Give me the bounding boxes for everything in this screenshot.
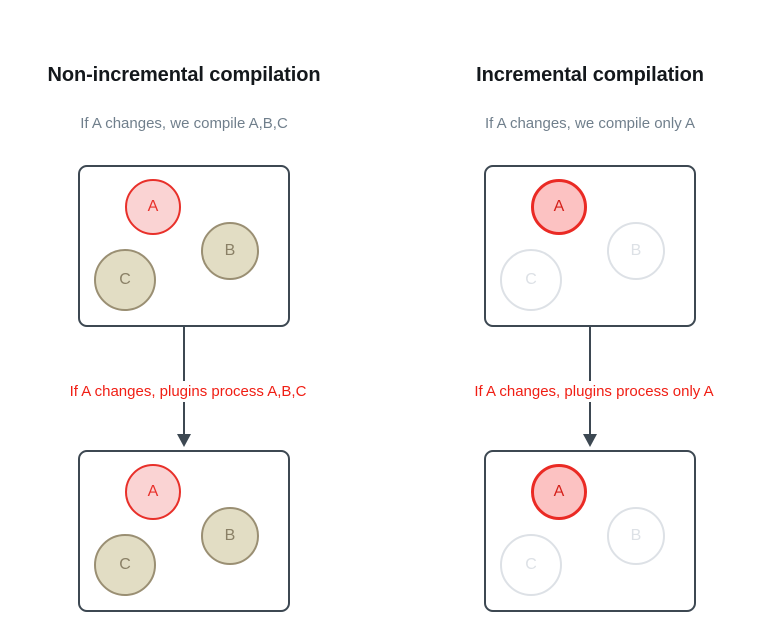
right-column-subtitle: If A changes, we compile only A [415, 115, 765, 132]
left-output-panel: A B C [78, 450, 290, 612]
left-column-title: Non-incremental compilation [9, 64, 359, 87]
right-source-node-c: C [500, 249, 562, 311]
left-output-node-a: A [125, 464, 181, 520]
right-source-node-a: A [531, 179, 587, 235]
right-arrow-caption: If A changes, plugins process only A [415, 381, 773, 402]
left-arrow-head [177, 434, 191, 447]
left-arrow-caption: If A changes, plugins process A,B,C [9, 381, 367, 402]
left-source-node-a: A [125, 179, 181, 235]
left-source-node-c: C [94, 249, 156, 311]
left-source-node-b: B [201, 222, 259, 280]
right-source-panel: A B C [484, 165, 696, 327]
node-label-b: B [631, 243, 642, 259]
right-output-node-b: B [607, 507, 665, 565]
node-label-a: A [554, 484, 565, 500]
right-output-node-a: A [531, 464, 587, 520]
node-label-c: C [525, 272, 537, 288]
right-arrow-head [583, 434, 597, 447]
left-output-node-b: B [201, 507, 259, 565]
node-label-a: A [554, 199, 565, 215]
node-label-a: A [148, 484, 159, 500]
right-column-title: Incremental compilation [415, 64, 765, 87]
left-column-subtitle: If A changes, we compile A,B,C [9, 115, 359, 132]
node-label-c: C [525, 557, 537, 573]
left-output-node-c: C [94, 534, 156, 596]
node-label-b: B [225, 243, 236, 259]
node-label-b: B [225, 528, 236, 544]
right-source-node-b: B [607, 222, 665, 280]
node-label-c: C [119, 557, 131, 573]
node-label-b: B [631, 528, 642, 544]
node-label-c: C [119, 272, 131, 288]
right-output-panel: A B C [484, 450, 696, 612]
left-source-panel: A B C [78, 165, 290, 327]
right-output-node-c: C [500, 534, 562, 596]
node-label-a: A [148, 199, 159, 215]
diagram-canvas: Non-incremental compilation If A changes… [0, 0, 775, 640]
